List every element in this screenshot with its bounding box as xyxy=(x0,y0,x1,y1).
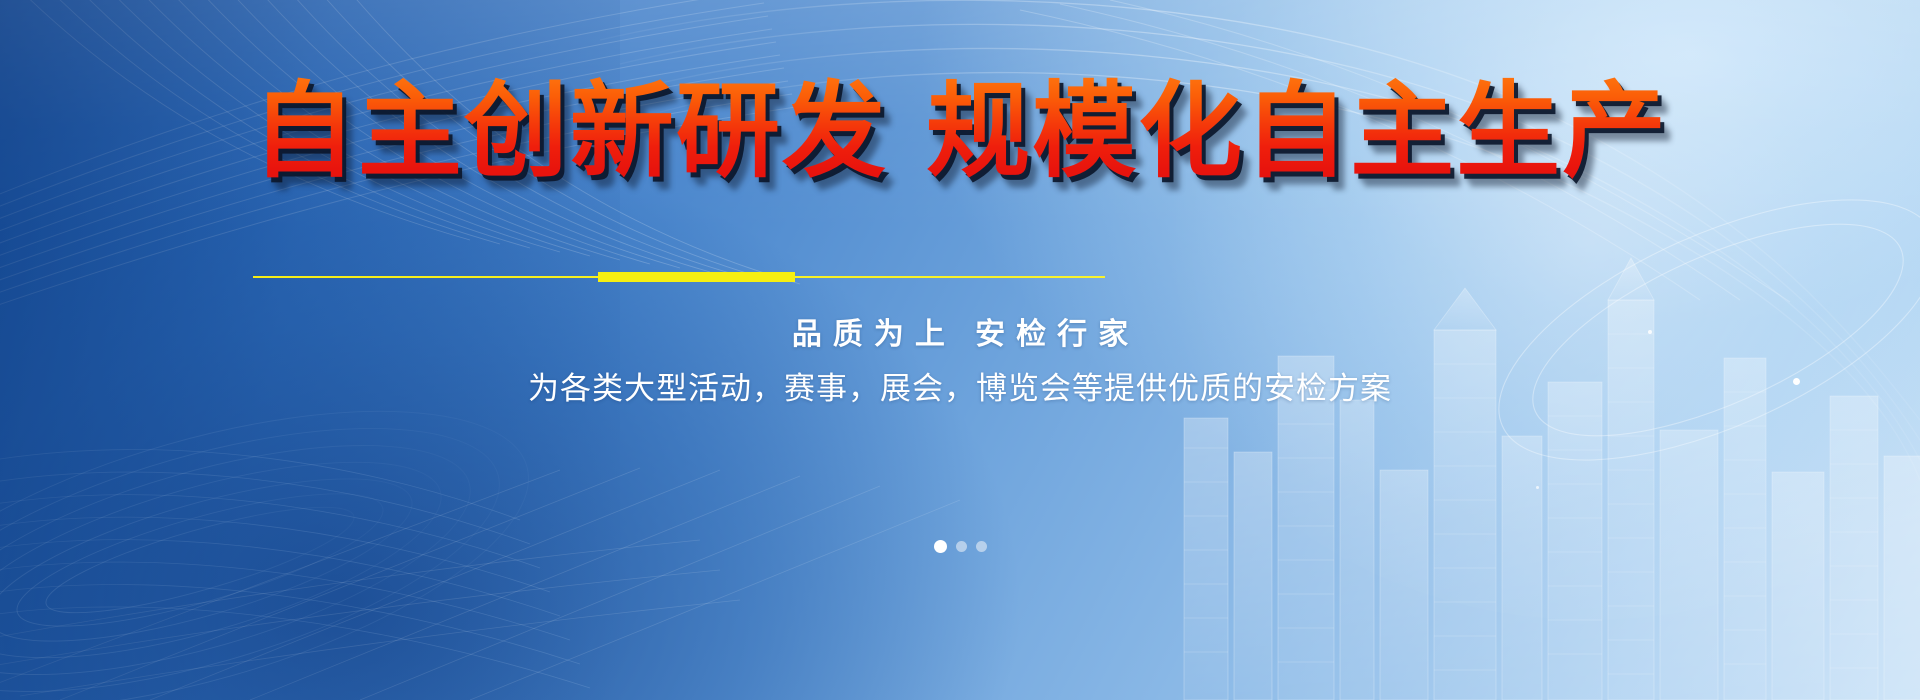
banner-tagline: 品质为上 安检行家 xyxy=(0,309,1920,353)
carousel-dot-1[interactable] xyxy=(934,540,947,553)
banner-content: 自主创新研发 规模化自主生产 品质为上 安检行家 为各类大型活动，赛事，展会，博… xyxy=(0,0,1920,700)
banner-subline: 为各类大型活动，赛事，展会，博览会等提供优质的安检方案 xyxy=(0,363,1920,408)
title-divider xyxy=(253,272,1105,282)
hero-banner: 自主创新研发 规模化自主生产 品质为上 安检行家 为各类大型活动，赛事，展会，博… xyxy=(0,0,1920,700)
divider-accent-bar xyxy=(598,272,795,282)
carousel-dot-2[interactable] xyxy=(956,541,967,552)
banner-main-title: 自主创新研发 规模化自主生产 xyxy=(0,68,1920,195)
carousel-dots[interactable] xyxy=(0,540,1920,553)
carousel-dot-3[interactable] xyxy=(976,541,987,552)
